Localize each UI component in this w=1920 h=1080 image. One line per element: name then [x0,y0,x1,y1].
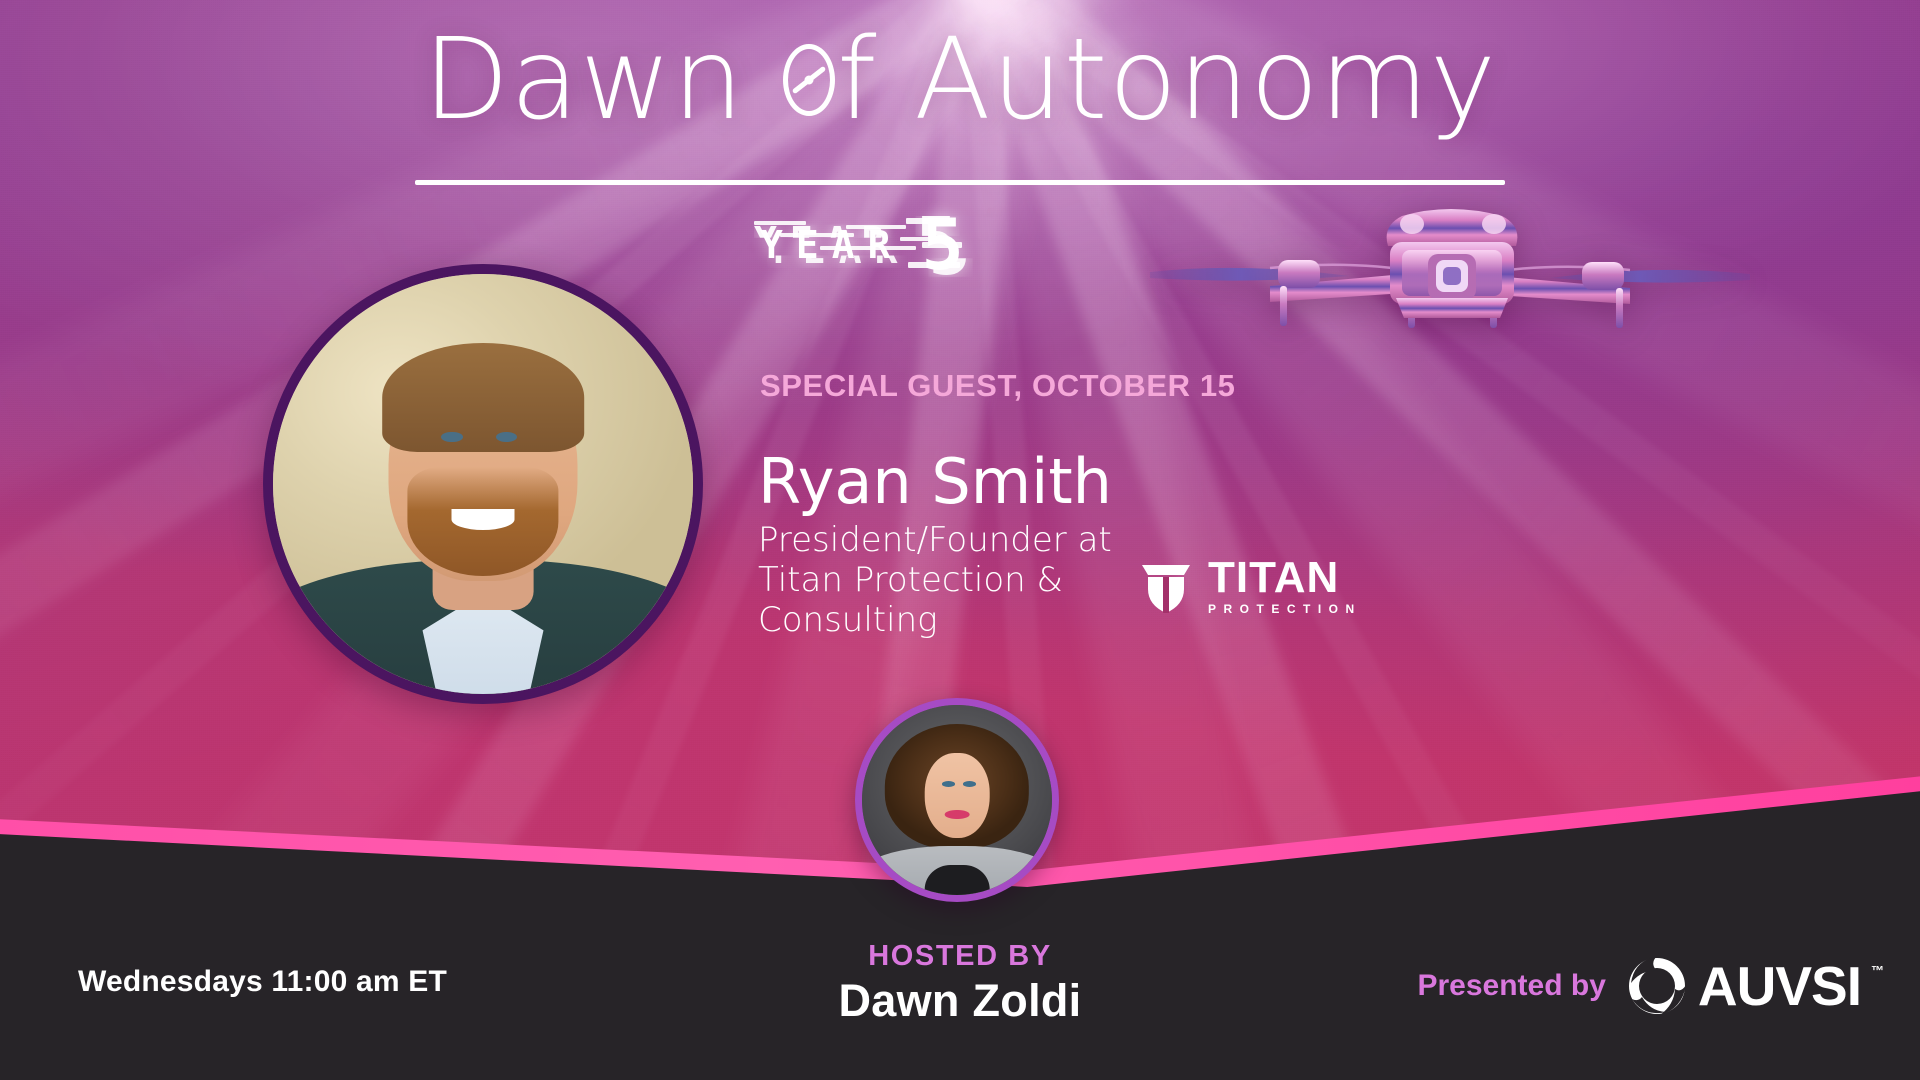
presented-by-block: Presented by AUVSI ™ [1417,955,1884,1017]
speaker-role-line-3: Consulting [758,600,1178,640]
title-text-tail: f Autonomy [837,24,1497,136]
titan-wordmark: TITAN [1208,558,1362,598]
auvsi-wordmark: AUVSI [1698,959,1861,1014]
glitch-bars [750,215,914,275]
auvsi-swirl-icon [1626,955,1688,1017]
speaker-role-line-2: Titan Protection & [758,560,1178,600]
title-divider [415,180,1505,185]
title-text-lead: Dawn [423,24,781,136]
pillar-icon [1140,559,1192,615]
host-avatar [855,698,1059,902]
speaker-avatar [263,264,703,704]
trademark-symbol: ™ [1871,963,1884,978]
page-title: Dawn f Autonomy [0,24,1920,136]
promo-banner: Dawn f Autonomy YEAR 5 [0,0,1920,1080]
speaker-role-line-1: President/Founder at [758,520,1178,560]
quadcopter-drone-icon [1150,198,1750,338]
compass-icon [783,44,835,116]
presented-by-label: Presented by [1417,969,1605,1003]
titan-tagline: PROTECTION [1208,602,1362,616]
year-label: YEAR [760,223,904,267]
titan-protection-logo: TITAN PROTECTION [1140,558,1362,616]
year-badge: YEAR 5 [760,212,966,279]
speaker-name: Ryan Smith [758,445,1112,518]
year-number: 5 [922,212,966,279]
special-guest-label: SPECIAL GUEST, OCTOBER 15 [760,368,1236,404]
speaker-role: President/Founder at Titan Protection & … [758,520,1178,640]
auvsi-logo: AUVSI ™ [1626,955,1884,1017]
